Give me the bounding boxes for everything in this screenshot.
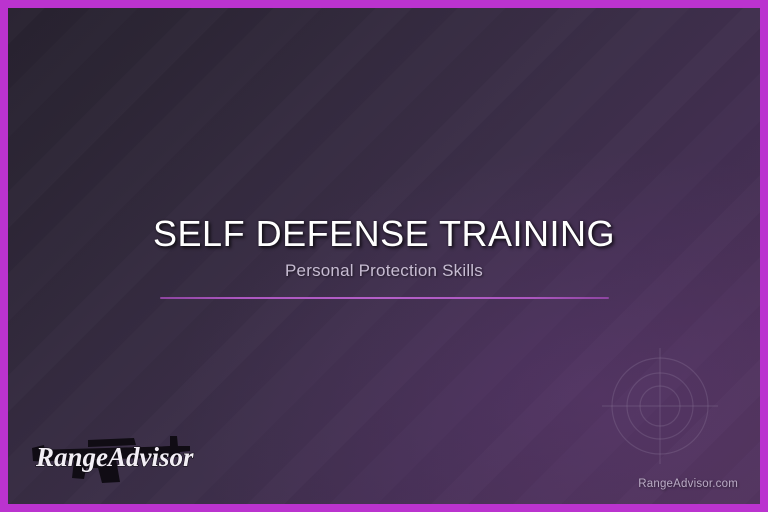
title-divider: [160, 297, 609, 299]
slide-content: SELF DEFENSE TRAINING Personal Protectio…: [8, 213, 760, 299]
page-title: SELF DEFENSE TRAINING: [8, 213, 760, 255]
brand-wordmark: RangeAdvisor: [35, 442, 194, 472]
page-subtitle: Personal Protection Skills: [8, 261, 760, 281]
site-credit: RangeAdvisor.com: [638, 478, 738, 490]
brand-logo[interactable]: RangeAdvisor: [30, 424, 198, 486]
presentation-slide: SELF DEFENSE TRAINING Personal Protectio…: [0, 0, 768, 512]
